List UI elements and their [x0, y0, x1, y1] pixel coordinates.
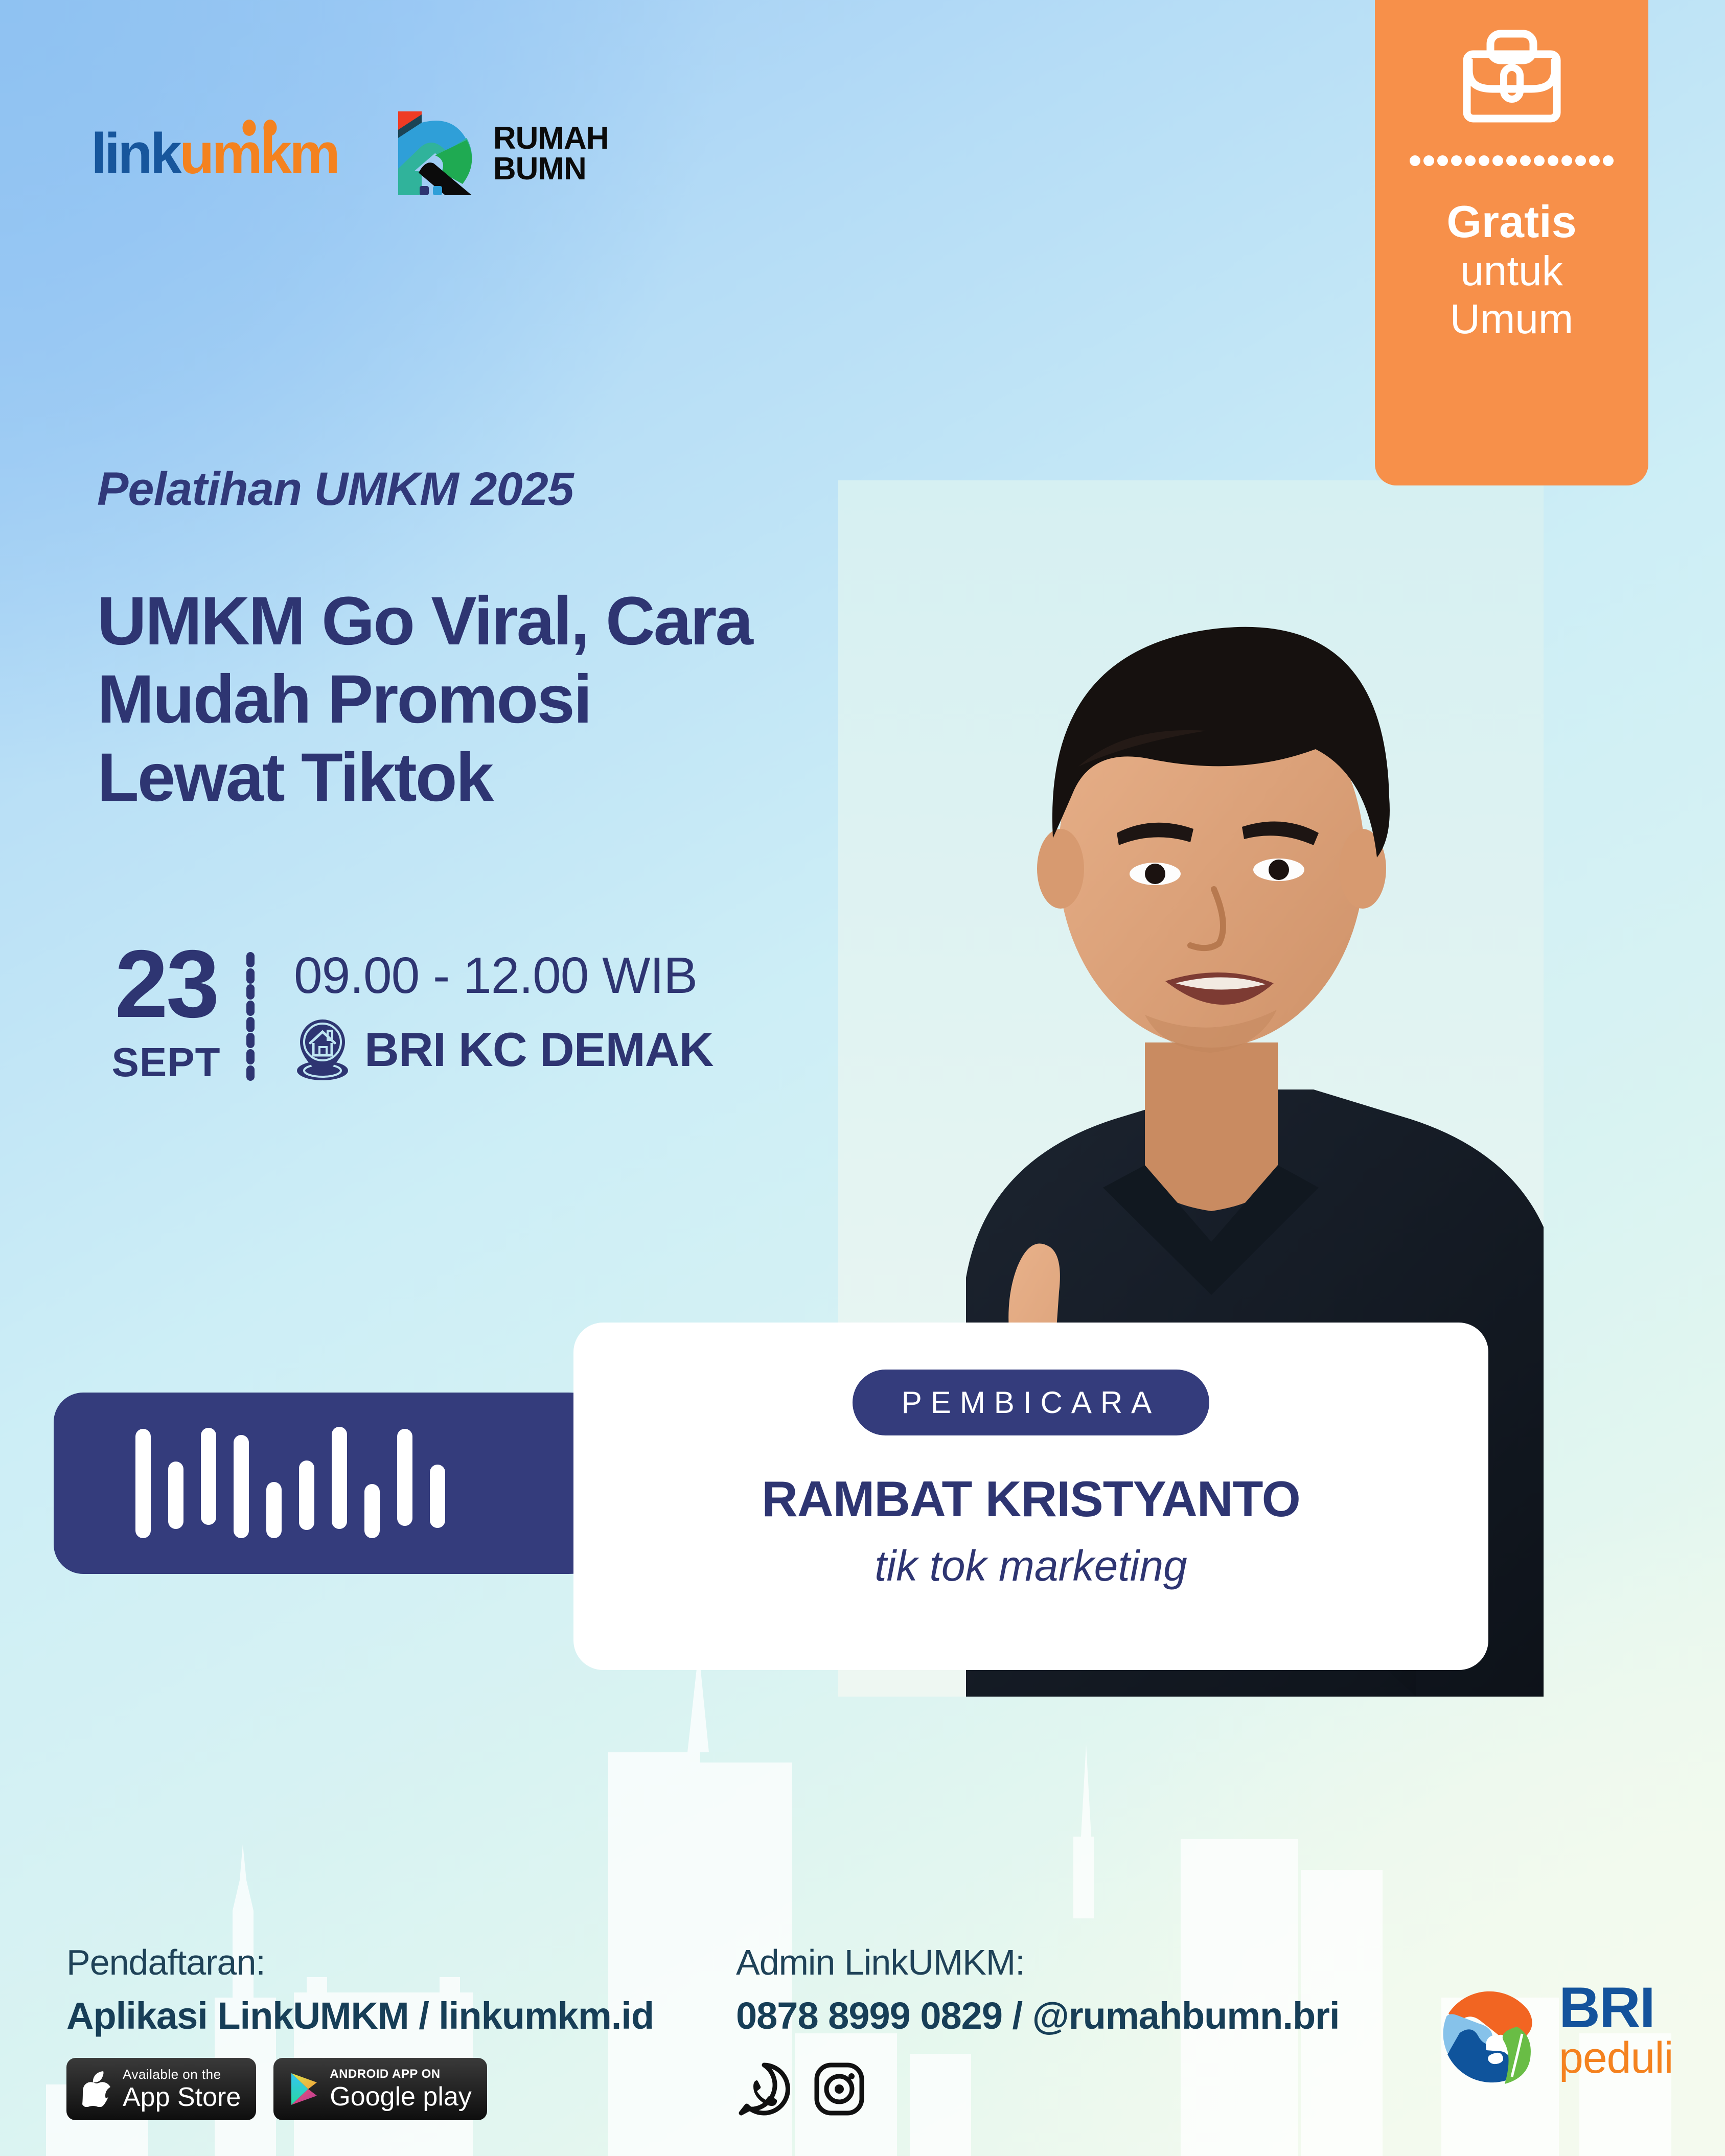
event-day: 23	[114, 943, 217, 1026]
linkumkm-logo-link: link	[91, 122, 179, 186]
badge-sub-label-2: Umum	[1446, 295, 1576, 343]
event-time: 09.00 - 12.00 WIB	[294, 946, 714, 1005]
rumah-bumn-line2: BUMN	[493, 154, 609, 184]
apple-icon	[82, 2071, 111, 2107]
badge-dotted-divider	[1410, 155, 1614, 167]
page-title-line2: Mudah Promosi	[97, 661, 966, 739]
page-title-line3: Lewat Tiktok	[97, 739, 966, 817]
event-kicker: Pelatihan UMKM 2025	[97, 462, 573, 516]
google-play-big-label: Google play	[330, 2083, 472, 2110]
event-date: 23 SEPT	[89, 943, 243, 1086]
page-title-line1: UMKM Go Viral, Cara	[97, 583, 966, 661]
audio-waveform-icon	[135, 1425, 493, 1542]
badge-main-label: Gratis	[1446, 196, 1576, 247]
whatsapp-icon[interactable]	[736, 2061, 792, 2117]
bri-tagline: peduli	[1559, 2038, 1673, 2078]
event-details: 09.00 - 12.00 WIB BRI KC DEMAK	[294, 943, 714, 1086]
instagram-icon[interactable]	[813, 2061, 866, 2117]
admin-value[interactable]: 0878 8999 0829 / @rumahbumn.bri	[736, 1994, 1411, 2037]
google-play-icon	[289, 2072, 318, 2106]
linkumkm-logo-umkm: umkm	[179, 122, 338, 186]
gratis-badge: Gratis untuk Umum	[1375, 0, 1648, 485]
google-play-small-label: ANDROID APP ON	[330, 2068, 472, 2080]
registration-value[interactable]: Aplikasi LinkUMKM / linkumkm.id	[66, 1994, 721, 2037]
rumah-bumn-mark-icon	[393, 108, 480, 199]
event-venue: BRI KC DEMAK	[364, 1022, 714, 1077]
admin-label: Admin LinkUMKM:	[736, 1942, 1411, 1983]
speaker-card: PEMBICARA RAMBAT KRISTYANTO tik tok mark…	[573, 1323, 1488, 1670]
speaker-role: tik tok marketing	[875, 1541, 1187, 1591]
badge-sub-label-1: untuk	[1446, 247, 1576, 295]
bri-peduli-mark-icon	[1431, 1974, 1544, 2086]
linkumkm-logo[interactable]: linkumkm	[91, 125, 338, 182]
registration-label: Pendaftaran:	[66, 1942, 721, 1983]
app-store-badges: Available on the App Store ANDROID A	[66, 2058, 721, 2120]
bri-wordmark: BRI peduli	[1559, 1981, 1673, 2078]
poster-root: linkumkm RUMAH BUMN	[0, 0, 1725, 2156]
app-store-badge[interactable]: Available on the App Store	[66, 2058, 256, 2120]
location-pin-house-icon	[294, 1017, 351, 1082]
badge-text: Gratis untuk Umum	[1446, 196, 1576, 343]
rumah-bumn-wordmark: RUMAH BUMN	[493, 123, 609, 184]
event-month: SEPT	[112, 1039, 221, 1086]
event-datetime-block: 23 SEPT 09.00 - 12.00 WIB BRI KC DEMAK	[89, 943, 714, 1086]
social-icons	[736, 2061, 1411, 2117]
page-title: UMKM Go Viral, Cara Mudah Promosi Lewat …	[97, 583, 966, 817]
vertical-dotted-divider	[243, 943, 258, 1086]
app-store-big-label: App Store	[123, 2084, 241, 2111]
bri-name: BRI	[1559, 1981, 1673, 2034]
linkumkm-people-dots-icon	[242, 120, 277, 136]
google-play-badge[interactable]: ANDROID APP ON Google play	[273, 2058, 487, 2120]
admin-contact-info: Admin LinkUMKM: 0878 8999 0829 / @rumahb…	[736, 1942, 1411, 2117]
rumah-bumn-logo[interactable]: RUMAH BUMN	[393, 108, 609, 199]
briefcase-icon	[1461, 30, 1563, 125]
speaker-name: RAMBAT KRISTYANTO	[762, 1470, 1300, 1528]
event-venue-row: BRI KC DEMAK	[294, 1017, 714, 1082]
speaker-label-badge: PEMBICARA	[853, 1370, 1209, 1435]
bri-peduli-logo: BRI peduli	[1431, 1974, 1673, 2086]
app-store-small-label: Available on the	[123, 2068, 241, 2081]
audio-waveform-badge	[54, 1393, 659, 1574]
registration-info: Pendaftaran: Aplikasi LinkUMKM / linkumk…	[66, 1942, 721, 2120]
rumah-bumn-line1: RUMAH	[493, 123, 609, 154]
header-logos: linkumkm RUMAH BUMN	[91, 108, 609, 199]
